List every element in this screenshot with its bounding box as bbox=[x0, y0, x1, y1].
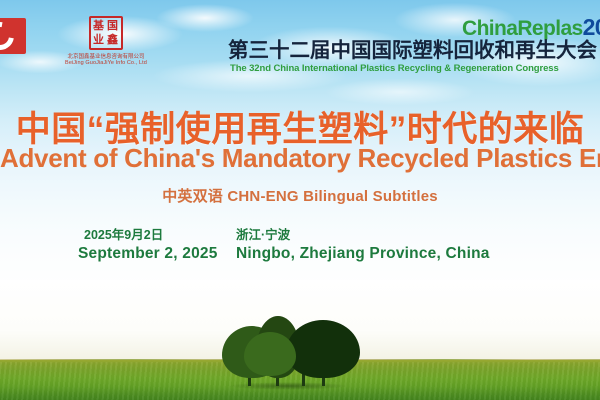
organizer-name-cn: 北京国鑫基业信息咨询有限公司 bbox=[58, 52, 154, 60]
tree-canopy bbox=[286, 320, 360, 378]
event-info: 2025年9月2日 September 2, 2025 浙江·宁波 Ningbo… bbox=[0, 227, 600, 272]
swirl-icon bbox=[0, 17, 19, 56]
conference-poster: 国鑫 基 国 业 鑫 北京国鑫基业信息咨询有限公司 BeiJing GuoJia… bbox=[0, 0, 600, 400]
event-venue: 浙江·宁波 Ningbo, Zhejiang Province, China bbox=[236, 227, 490, 264]
event-date-cn: 2025年9月2日 bbox=[78, 227, 218, 244]
landscape-photo bbox=[0, 280, 600, 400]
tree-shadow bbox=[228, 382, 348, 390]
organizer-logo: 基 国 业 鑫 北京国鑫基业信息咨询有限公司 BeiJing GuoJiaJiY… bbox=[58, 16, 154, 66]
event-date-en: September 2, 2025 bbox=[78, 244, 218, 264]
event-date: 2025年9月2日 September 2, 2025 bbox=[78, 227, 218, 264]
congress-title-cn: 第三十二届中国国际塑料回收和再生大会 bbox=[228, 40, 597, 63]
headline-en: Advent of China's Mandatory Recycled Pla… bbox=[0, 143, 600, 174]
event-brand-logo: ChinaReplas2025 bbox=[462, 16, 600, 39]
tree-canopy bbox=[244, 332, 296, 376]
organizer-name-en: BeiJing GuoJiaJiYe Info Co., Ltd bbox=[58, 60, 154, 66]
seal-char-3: 业 bbox=[92, 33, 105, 46]
event-venue-en: Ningbo, Zhejiang Province, China bbox=[236, 244, 490, 264]
seal-char-2: 国 bbox=[106, 19, 119, 32]
brand-word: ChinaReplas bbox=[462, 17, 583, 40]
congress-title-en: The 32nd China International Plastics Re… bbox=[230, 63, 559, 74]
left-logo-caption: 国鑫 bbox=[0, 56, 30, 63]
logo-block-icon bbox=[0, 18, 26, 54]
brand-year: 2025 bbox=[583, 14, 600, 40]
seal-char-1: 基 bbox=[92, 19, 105, 32]
seal-char-4: 鑫 bbox=[106, 33, 119, 46]
bilingual-subtitle-note: 中英双语 CHN-ENG Bilingual Subtitles bbox=[0, 185, 600, 206]
chinese-seal-stamp-icon: 基 国 业 鑫 bbox=[89, 16, 123, 50]
partner-logo-left: 国鑫 bbox=[0, 18, 30, 64]
event-venue-cn: 浙江·宁波 bbox=[236, 227, 490, 244]
